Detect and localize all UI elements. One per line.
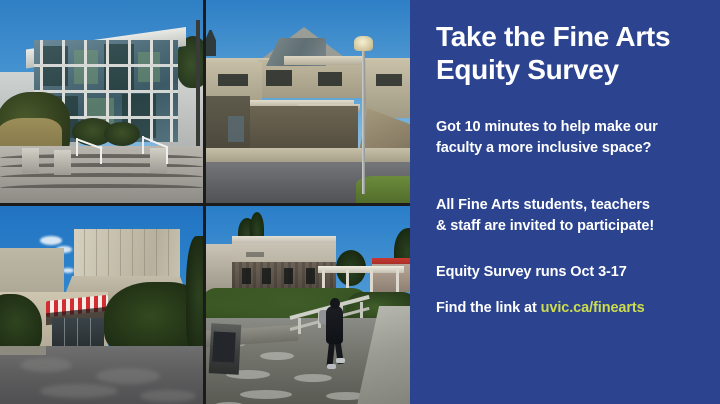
handrail-post [142,136,144,154]
photo-collage [0,0,410,404]
handrail-post [76,138,78,156]
headline-line-1: Take the Fine Arts [436,21,706,54]
terrace-rail [284,56,362,65]
person-shoe [327,364,336,369]
entrance-glazing [52,318,104,346]
sign-face [212,331,236,362]
covered-walkway [318,266,404,273]
curb [0,346,46,355]
person-torso [326,306,343,344]
person-head [330,298,340,309]
photo-bottom-left [0,206,203,404]
survey-dates: Equity Survey runs Oct 3-17 [436,262,712,283]
photo-top-left [0,0,203,203]
link-prefix-text: Find the link at [436,300,541,316]
message-panel: Take the Fine Arts Equity Survey Got 10 … [410,0,720,404]
survey-link[interactable]: uvic.ca/finearts [541,300,645,316]
lamppost [362,44,365,194]
building-wing-right [366,60,410,118]
step-pier [150,148,167,173]
photo-top-right [206,0,410,203]
walkway-post [370,268,373,294]
shrub [104,122,140,146]
handrail-post [100,146,102,164]
tree [186,236,203,356]
light-pole [196,20,200,150]
page-title: Take the Fine Arts Equity Survey [436,21,706,87]
step-pier [54,150,71,175]
fine-arts-equity-survey-poster: Take the Fine Arts Equity Survey Got 10 … [0,0,720,404]
lamp-head [354,36,373,51]
railing-post [298,318,301,334]
headline-line-2: Equity Survey [436,54,706,87]
body2-line-2: & staff are invited to participate! [436,216,712,237]
building-roofline [232,236,336,243]
walkway-post [396,268,399,294]
person-shoe [336,358,345,363]
step-pier [22,148,39,173]
cloud [40,236,62,245]
handrail-post [166,146,168,164]
photo-bottom-right [206,206,410,404]
body-paragraph-audience: All Fine Arts students, teachers & staff… [436,195,712,237]
body1-line-1: Got 10 minutes to help make our [436,117,712,138]
body2-line-1: All Fine Arts students, teachers [436,195,712,216]
body1-line-2: faculty a more inclusive space? [436,138,712,159]
railing-post [360,302,363,318]
link-line: Find the link at uvic.ca/finearts [436,298,712,319]
body-paragraph-question: Got 10 minutes to help make our faculty … [436,117,712,159]
